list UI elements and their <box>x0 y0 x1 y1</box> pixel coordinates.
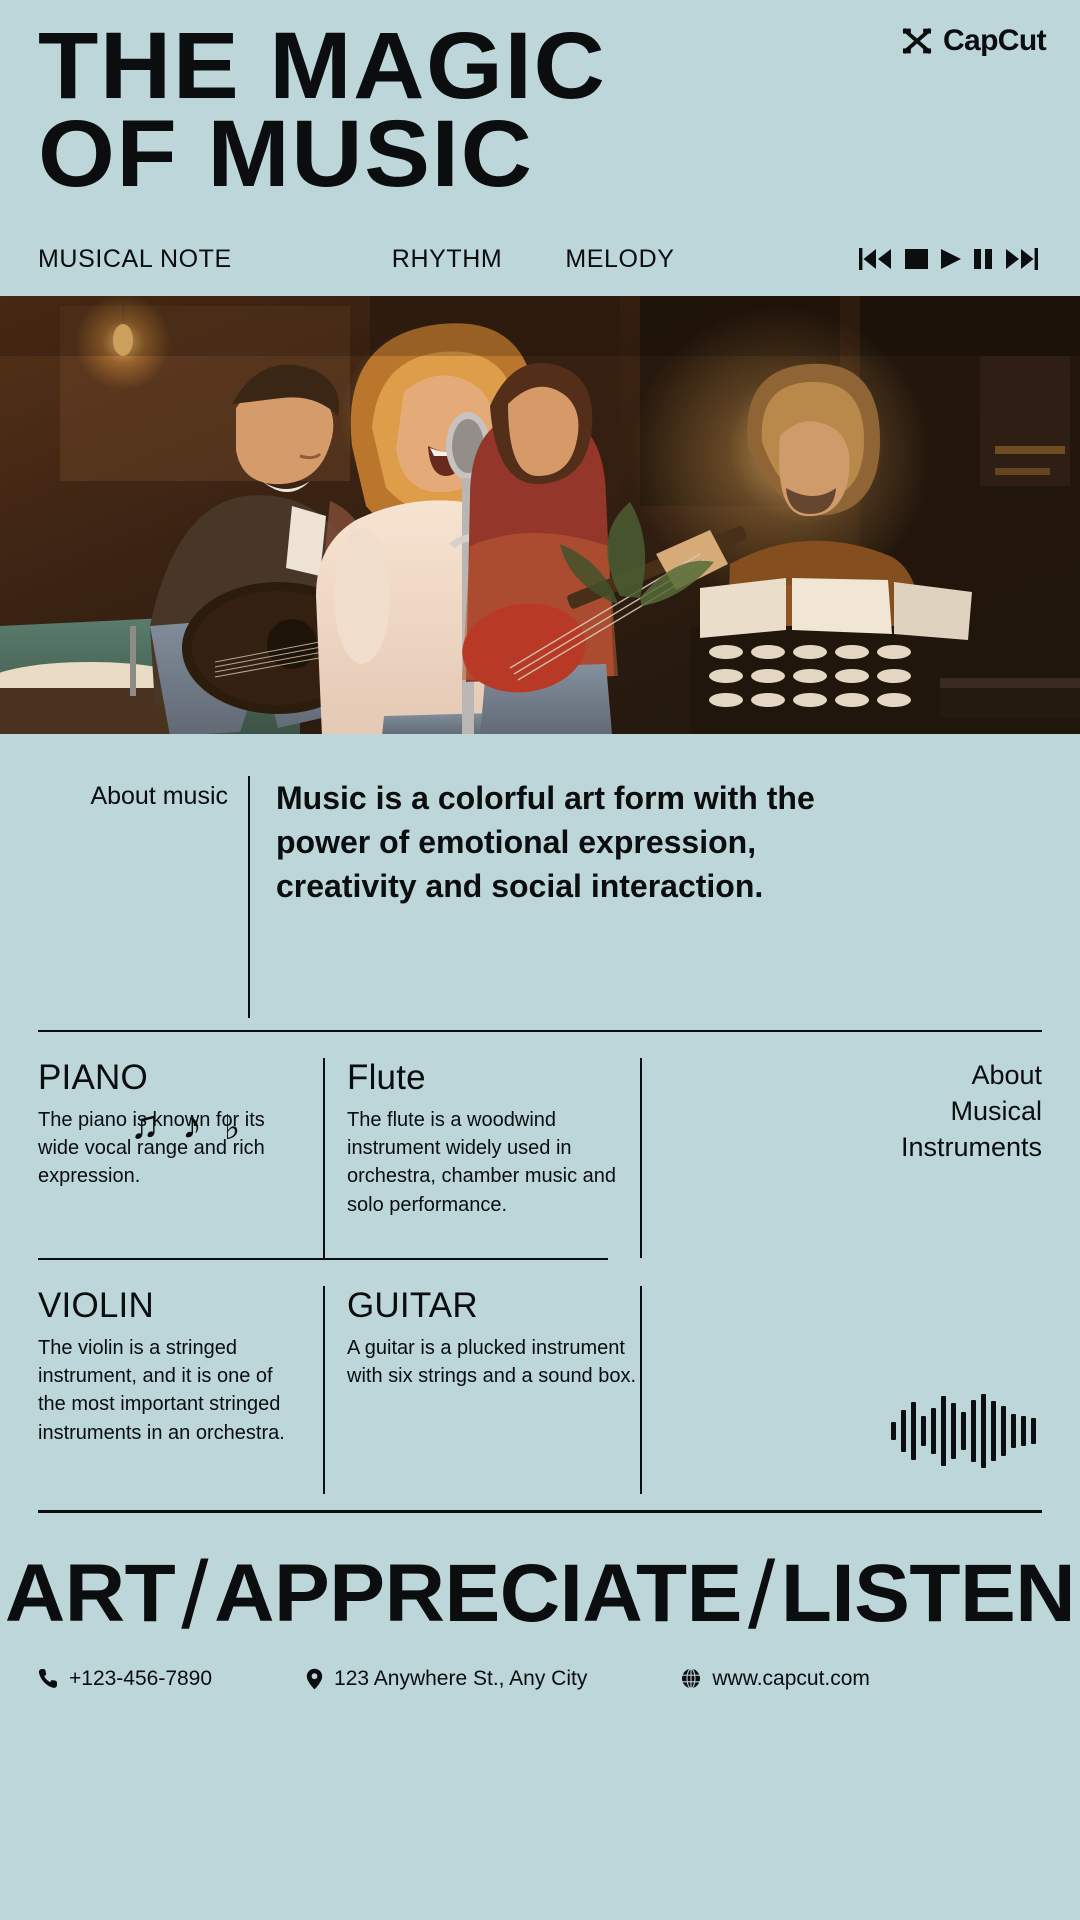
instrument-name: PIANO <box>38 1058 305 1098</box>
contact-phone[interactable]: +123-456-7890 <box>38 1667 212 1691</box>
audio-waveform-graphic <box>891 1394 1036 1468</box>
waveform-bar <box>981 1394 986 1468</box>
footer-word-art: ART <box>5 1547 175 1641</box>
waveform-bar <box>941 1396 946 1466</box>
waveform-bar <box>951 1403 956 1459</box>
instrument-card-guitar: GUITAR A guitar is a plucked instrument … <box>325 1286 640 1494</box>
about-music-section: About music Music is a colorful art form… <box>0 734 1080 1030</box>
instruments-section-2: VIOLIN The violin is a stringed instrume… <box>0 1260 1080 1494</box>
instrument-card-flute: Flute The flute is a woodwind instrument… <box>325 1058 640 1258</box>
instruments-title-line-3: Instruments <box>666 1130 1042 1166</box>
band-performance-photo <box>0 296 1080 734</box>
brand-name: CapCut <box>943 26 1046 56</box>
page-title: THE MAGIC OF MUSIC <box>38 22 766 199</box>
beamed-eighth-notes-icon: ♫ <box>130 1105 160 1145</box>
instrument-card-piano: PIANO The piano is known for its wide vo… <box>38 1058 323 1258</box>
nav-item-rhythm[interactable]: RHYTHM <box>392 245 503 274</box>
instrument-name: VIOLIN <box>38 1286 305 1326</box>
capcut-logo-icon <box>900 27 934 55</box>
about-music-label: About music <box>38 776 248 1030</box>
waveform-bar <box>1001 1406 1006 1456</box>
instrument-card-violin: VIOLIN The violin is a stringed instrume… <box>38 1286 323 1494</box>
about-music-text: Music is a colorful art form with the po… <box>276 776 886 908</box>
footer-word-appreciate: APPRECIATE <box>214 1547 742 1641</box>
waveform-bar <box>1011 1414 1016 1448</box>
footer-separator: / <box>175 1541 214 1651</box>
nav-row: MUSICAL NOTE RHYTHM MELODY <box>38 245 1042 296</box>
poster-root: CapCut THE MAGIC OF MUSIC MUSICAL NOTE R… <box>0 0 1080 1920</box>
contact-row: +123-456-7890 123 Anywhere St., Any City <box>38 1653 1042 1717</box>
nav-item-musical-note[interactable]: MUSICAL NOTE <box>38 245 232 274</box>
pause-icon[interactable] <box>973 246 993 272</box>
waveform-bar <box>1031 1418 1036 1444</box>
instrument-description: The violin is a stringed instrument, and… <box>38 1334 305 1448</box>
stop-icon[interactable] <box>904 246 929 272</box>
footer-word-listen: LISTEN <box>781 1547 1075 1641</box>
contact-website-text: www.capcut.com <box>712 1667 870 1691</box>
contact-phone-text: +123-456-7890 <box>69 1667 212 1691</box>
contact-address[interactable]: 123 Anywhere St., Any City <box>306 1667 587 1691</box>
media-controls <box>859 246 1042 272</box>
waveform-bar <box>891 1422 896 1440</box>
waveform-bar <box>971 1400 976 1462</box>
globe-icon <box>681 1668 701 1689</box>
instrument-name: Flute <box>347 1058 640 1098</box>
waveform-bar <box>901 1410 906 1452</box>
contact-website[interactable]: www.capcut.com <box>681 1667 870 1691</box>
poster-header: CapCut THE MAGIC OF MUSIC MUSICAL NOTE R… <box>0 0 1080 296</box>
waveform-bar <box>991 1401 996 1461</box>
nav-links: MUSICAL NOTE RHYTHM MELODY <box>38 245 675 274</box>
instrument-description: The flute is a woodwind instrument widel… <box>347 1106 640 1220</box>
about-music-body: Music is a colorful art form with the po… <box>250 776 1042 1030</box>
next-track-icon[interactable] <box>1004 246 1038 272</box>
footer-separator: / <box>742 1541 781 1651</box>
phone-icon <box>38 1668 58 1689</box>
capcut-brand: CapCut <box>900 26 1046 56</box>
play-icon[interactable] <box>940 246 962 272</box>
location-pin-icon <box>306 1668 323 1690</box>
previous-track-icon[interactable] <box>859 246 893 272</box>
instrument-name: GUITAR <box>347 1286 640 1326</box>
waveform-bar <box>931 1408 936 1454</box>
eighth-note-icon: ♪ <box>182 1105 202 1145</box>
poster-footer: ART / APPRECIATE / LISTEN +123-456-7890 <box>0 1510 1080 1717</box>
instruments-title-line-1: About <box>666 1058 1042 1094</box>
contact-address-text: 123 Anywhere St., Any City <box>334 1667 587 1691</box>
instruments-title-line-2: Musical <box>666 1094 1042 1130</box>
waveform-bar <box>911 1402 916 1460</box>
music-note-glyphs: ♫ ♪ ♭ <box>130 1105 240 1145</box>
footer-divider <box>38 1510 1042 1513</box>
waveform-bar <box>921 1416 926 1446</box>
waveform-bar <box>1021 1416 1026 1446</box>
waveform-bar <box>961 1412 966 1450</box>
instruments-section-title: About Musical Instruments <box>642 1058 1042 1258</box>
instrument-description: A guitar is a plucked instrument with si… <box>347 1334 640 1391</box>
flat-sign-icon: ♭ <box>224 1111 240 1145</box>
footer-headline: ART / APPRECIATE / LISTEN <box>28 1539 1052 1649</box>
nav-item-melody[interactable]: MELODY <box>565 245 674 274</box>
